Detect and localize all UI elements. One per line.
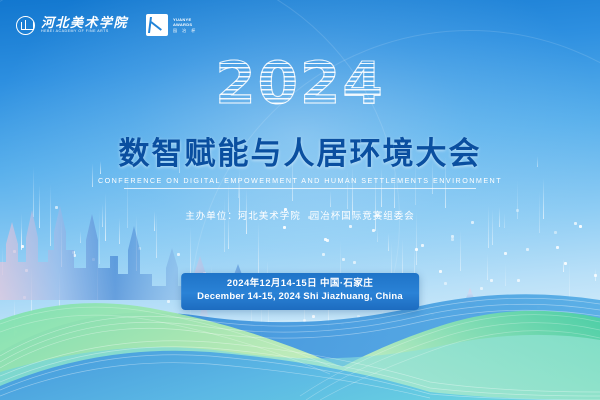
light-particle bbox=[68, 317, 71, 320]
light-ray bbox=[377, 228, 378, 242]
light-particle bbox=[594, 274, 597, 277]
light-particle bbox=[451, 235, 454, 238]
light-ray bbox=[190, 227, 191, 280]
light-particle bbox=[13, 250, 16, 253]
light-particle bbox=[167, 300, 170, 303]
light-particle bbox=[421, 244, 424, 247]
organizer-label: 主办单位： bbox=[185, 211, 238, 222]
date-badge: 2024年12月14-15日 中国·石家庄 December 14-15, 20… bbox=[181, 273, 419, 310]
light-particle bbox=[92, 258, 95, 261]
light-particle bbox=[324, 238, 327, 241]
organizer-name-1: 河北美术学院 bbox=[238, 211, 301, 222]
light-particle bbox=[341, 323, 344, 326]
light-particle bbox=[283, 226, 286, 229]
year-text: 2024 bbox=[215, 54, 384, 112]
light-particle bbox=[517, 279, 520, 282]
light-ray bbox=[224, 197, 225, 252]
light-particle bbox=[21, 245, 24, 248]
light-ray bbox=[595, 268, 596, 281]
light-particle bbox=[504, 252, 507, 255]
light-particle bbox=[72, 251, 75, 254]
date-text-en: December 14-15, 2024 Shi Jiazhuang, Chin… bbox=[197, 291, 403, 304]
light-ray bbox=[487, 253, 488, 280]
light-particle bbox=[537, 306, 540, 309]
light-ray bbox=[505, 263, 506, 286]
school-logo[interactable]: 河北美术学院 HEBEI ACADEMY OF FINE ARTS bbox=[16, 16, 128, 35]
page-title: 数智赋能与人居环境大会 bbox=[0, 128, 600, 173]
light-particle bbox=[549, 328, 552, 331]
hill-blue-front bbox=[0, 351, 600, 400]
light-ray bbox=[388, 233, 389, 251]
light-ray bbox=[330, 191, 331, 207]
school-name-cn: 河北美术学院 bbox=[41, 16, 128, 29]
year-heading: 2024 bbox=[0, 54, 600, 112]
conference-poster: 河北美术学院 HEBEI ACADEMY OF FINE ARTS YUANYE… bbox=[0, 0, 600, 400]
light-particle bbox=[579, 225, 582, 228]
light-particle bbox=[554, 231, 557, 234]
hill-green-left bbox=[0, 303, 520, 400]
background-arc-2 bbox=[0, 352, 600, 400]
light-particle bbox=[451, 238, 454, 241]
light-ray bbox=[2, 246, 3, 276]
light-ray bbox=[569, 260, 570, 322]
light-particle bbox=[574, 222, 577, 225]
hill-teal-mid bbox=[0, 335, 600, 400]
light-ray bbox=[61, 218, 62, 268]
logo-bar: 河北美术学院 HEBEI ACADEMY OF FINE ARTS YUANYE… bbox=[16, 14, 197, 36]
light-ray bbox=[460, 230, 461, 271]
light-particle bbox=[431, 313, 434, 316]
hill-green-right bbox=[296, 311, 600, 400]
award-logo[interactable]: YUANYE AWARDS 园 冶 杯 bbox=[146, 14, 197, 36]
light-particle bbox=[14, 330, 17, 333]
light-particle bbox=[312, 315, 315, 318]
light-particle bbox=[177, 253, 180, 256]
date-text-cn: 2024年12月14-15日 中国·石家庄 bbox=[197, 278, 403, 291]
light-particle bbox=[439, 270, 442, 273]
light-particle bbox=[564, 262, 567, 265]
school-name-en: HEBEI ACADEMY OF FINE ARTS bbox=[41, 30, 128, 34]
page-subtitle: CONFERENCE ON DIGITAL EMPOWERMENT AND HU… bbox=[0, 176, 600, 185]
award-name-en-line2: AWARDS bbox=[173, 23, 197, 27]
light-particle bbox=[357, 315, 360, 318]
light-particle bbox=[415, 248, 418, 251]
hill-blue-back bbox=[0, 294, 600, 400]
light-particle bbox=[25, 269, 28, 272]
light-particle bbox=[73, 254, 76, 257]
light-ray bbox=[21, 227, 22, 250]
light-particle bbox=[353, 261, 356, 264]
light-ray bbox=[136, 215, 137, 271]
light-particle bbox=[342, 258, 345, 261]
background-arc-1 bbox=[0, 320, 600, 400]
light-particle bbox=[372, 229, 375, 232]
light-ray bbox=[97, 253, 98, 300]
light-ray bbox=[31, 267, 32, 317]
light-ray bbox=[80, 231, 81, 243]
light-particle bbox=[349, 225, 352, 228]
pavilion-right bbox=[516, 317, 600, 382]
yuanye-award-mark-icon bbox=[146, 14, 168, 36]
light-particle bbox=[526, 248, 529, 251]
organizer-line: 主办单位：河北美术学院园冶杯国际竞赛组委会 bbox=[0, 208, 600, 222]
light-particle bbox=[556, 246, 559, 249]
light-particle bbox=[326, 239, 329, 242]
light-ray bbox=[59, 272, 60, 310]
light-ray bbox=[14, 299, 15, 336]
light-ray bbox=[563, 259, 564, 272]
pagoda-right bbox=[445, 288, 495, 366]
background-arc-3 bbox=[40, 384, 560, 400]
light-ray bbox=[381, 168, 382, 207]
light-particle bbox=[490, 279, 493, 282]
light-particle bbox=[444, 282, 447, 285]
light-particle bbox=[480, 287, 483, 290]
hebei-academy-seal-icon bbox=[16, 16, 35, 35]
light-particle bbox=[303, 319, 306, 322]
organizer-name-2: 园冶杯国际竞赛组委会 bbox=[310, 211, 415, 222]
title-divider bbox=[124, 188, 476, 189]
light-particle bbox=[23, 296, 26, 299]
award-name-cn: 园 冶 杯 bbox=[173, 29, 197, 33]
light-particle bbox=[138, 247, 141, 250]
award-name-en-line1: YUANYE bbox=[173, 18, 197, 22]
light-particle bbox=[322, 253, 325, 256]
